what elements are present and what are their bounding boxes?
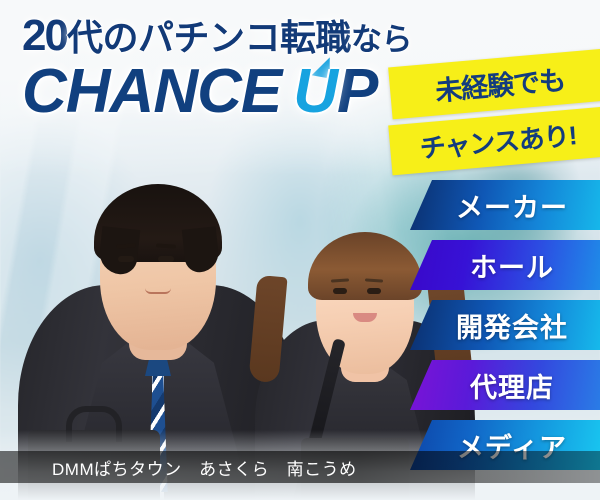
category-button-list: メーカー ホール 開発会社 代理店 メディア xyxy=(410,180,600,480)
category-label-agency: 代理店 xyxy=(456,366,554,405)
logo-word-up: UP xyxy=(293,61,377,123)
male-mouth xyxy=(145,288,171,294)
headline-kicker: 20代のパチンコ転職なら xyxy=(22,14,420,59)
category-button-developer[interactable]: 開発会社 xyxy=(410,300,600,350)
female-hair-top xyxy=(308,232,422,300)
credit-band: DMMぱちタウン あさくら 南こうめ xyxy=(0,451,600,483)
female-eye-right xyxy=(367,288,381,294)
category-button-maker[interactable]: メーカー xyxy=(410,180,600,230)
category-label-developer: 開発会社 xyxy=(442,306,568,345)
logo-letter-p: P xyxy=(337,57,377,126)
promo-badges: 未経験でも チャンスあり! xyxy=(390,58,600,172)
kicker-number: 20 xyxy=(22,11,67,60)
category-button-hall[interactable]: ホール xyxy=(410,240,600,290)
logo-letter-u: U xyxy=(293,57,337,126)
female-eye-left xyxy=(333,288,347,294)
male-eye-right xyxy=(158,256,174,262)
kicker-middle: 代のパチンコ転職 xyxy=(67,17,351,58)
category-button-agency[interactable]: 代理店 xyxy=(410,360,600,410)
kicker-tail: なら xyxy=(351,22,412,57)
recruit-banner[interactable]: 20代のパチンコ転職なら CHANCEUP 未経験でも チャンスあり! メーカー… xyxy=(0,0,600,500)
logo-word-chance: CHANCE xyxy=(22,57,281,126)
credit-text: DMMぱちタウン あさくら 南こうめ xyxy=(0,455,357,480)
headline-block: 20代のパチンコ転職なら CHANCEUP xyxy=(0,0,420,123)
badge-chance-available: チャンスあり! xyxy=(388,107,600,176)
category-label-maker: メーカー xyxy=(442,186,568,225)
male-hair xyxy=(94,184,222,262)
male-eye-left xyxy=(118,256,134,262)
logo-chance-up: CHANCEUP xyxy=(22,61,420,123)
category-label-hall: ホール xyxy=(456,246,554,285)
